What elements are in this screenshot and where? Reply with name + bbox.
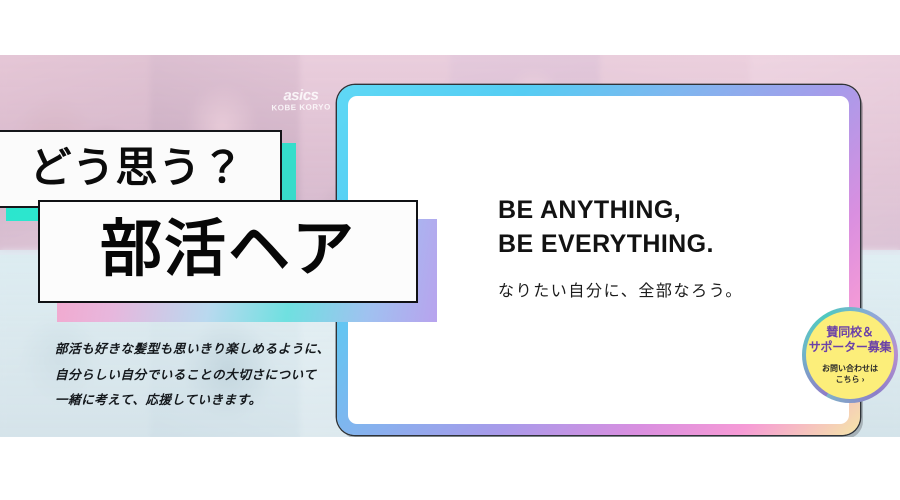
lead-copy-line: 自分らしい自分でいることの大切さについて <box>55 363 330 389</box>
speech-box-bukatsu-hair: 部活ヘア <box>38 200 418 303</box>
asics-team-text: KOBE KORYO <box>258 103 344 113</box>
speech-box-label: どう思う？ <box>29 147 244 189</box>
cta-badge-inner[interactable]: 賛同校＆ サポーター募集 お問い合わせは こちら › <box>806 311 894 399</box>
cta-badge-contact-line-2: こちら › <box>836 374 865 385</box>
lead-copy-line: 一緒に考えて、応援していきます。 <box>55 388 330 414</box>
cta-badge-supporter-recruit[interactable]: 賛同校＆ サポーター募集 お問い合わせは こちら › <box>802 307 898 403</box>
speech-box-label: 部活ヘア <box>100 219 356 281</box>
headline-line-2: BE EVERYTHING. <box>498 228 743 262</box>
asics-shirt-logo: asics KOBE KORYO <box>258 87 344 113</box>
speech-box-face: どう思う？ <box>0 130 282 208</box>
cta-badge-line-2: サポーター募集 <box>809 340 892 356</box>
cta-badge-line-1: 賛同校＆ <box>826 325 873 341</box>
lead-copy-line: 部活も好きな髪型も思いきり楽しめるように、 <box>55 337 330 363</box>
speech-box-dou-omou: どう思う？ <box>0 130 282 208</box>
headline-line-1: BE ANYTHING, <box>498 194 743 228</box>
cta-badge-contact-line-1: お問い合わせは <box>822 363 878 374</box>
headline-subtitle-jp: なりたい自分に、全部なろう。 <box>498 277 743 301</box>
asics-brand-text: asics <box>258 87 344 104</box>
headline-block: BE ANYTHING, BE EVERYTHING. なりたい自分に、全部なろ… <box>498 194 743 301</box>
lead-copy: 部活も好きな髪型も思いきり楽しめるように、 自分らしい自分でいることの大切さにつ… <box>55 337 330 414</box>
banner-stage: asics KOBE KORYO BE ANYTHING, BE EVERYTH… <box>0 0 900 500</box>
speech-box-face: 部活ヘア <box>38 200 418 303</box>
campaign-banner: asics KOBE KORYO BE ANYTHING, BE EVERYTH… <box>0 55 900 437</box>
